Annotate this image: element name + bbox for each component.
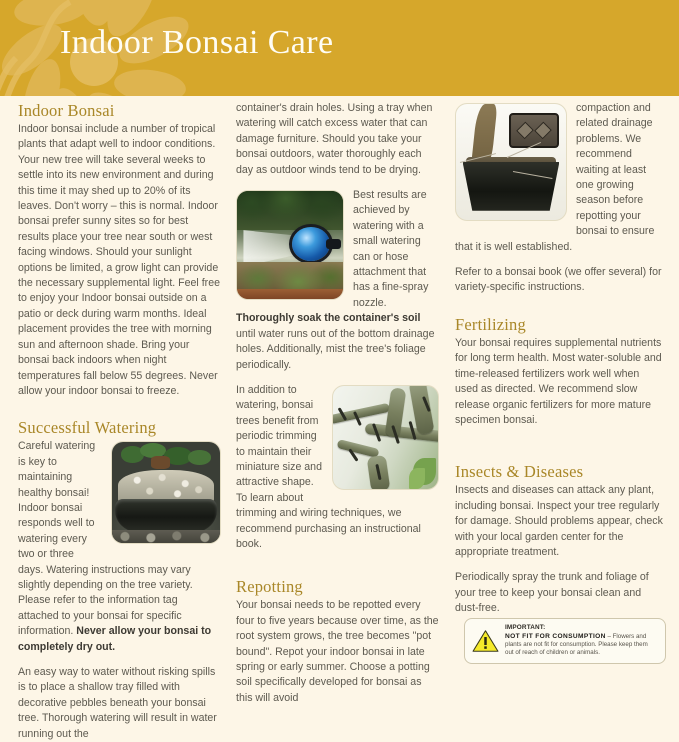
spray-bold-text: Thoroughly soak the container's soil	[236, 312, 420, 324]
wired-branches-photo	[332, 385, 439, 490]
page-header: Indoor Bonsai Care	[0, 0, 679, 96]
important-warning-box: IMPORTANT: NOT FIT FOR CONSUMPTION – Flo…	[464, 618, 666, 664]
warning-text-block: IMPORTANT: NOT FIT FOR CONSUMPTION – Flo…	[505, 624, 658, 658]
paragraph-repotting: Your bonsai needs to be repotted every f…	[236, 598, 439, 706]
spacer	[455, 438, 664, 462]
paragraph-watering-tray: An easy way to water without risking spi…	[18, 665, 221, 742]
section-heading-repotting: Repotting	[236, 577, 439, 597]
paragraph-indoor-bonsai: Indoor bonsai include a number of tropic…	[18, 122, 221, 399]
warning-line-not-fit: NOT FIT FOR CONSUMPTION	[505, 633, 606, 640]
page-root: Indoor Bonsai Care Indoor Bonsai Indoor …	[0, 0, 679, 679]
spray-text-with-photo: Best results are achieved by watering wi…	[236, 188, 439, 383]
section-heading-indoor-bonsai: Indoor Bonsai	[18, 101, 221, 121]
bonsai-pot-mesh-photo	[455, 103, 567, 221]
warning-triangle-icon	[472, 629, 499, 653]
bonsai-pot-pebbles-photo	[111, 441, 221, 544]
warning-line-important: IMPORTANT:	[505, 624, 658, 632]
paragraph-refer-book: Refer to a bonsai book (we offer several…	[455, 265, 664, 296]
spacer	[236, 562, 439, 577]
section-heading-insects-diseases: Insects & Diseases	[455, 462, 664, 482]
spray-tail-text: until water runs out of the bottom drain…	[236, 328, 434, 371]
trimming-text-with-photo: In addition to watering, bonsai trees be…	[236, 383, 439, 562]
paragraph-insects: Insects and diseases can attack any plan…	[455, 483, 664, 560]
section-heading-successful-watering: Successful Watering	[18, 418, 221, 438]
column-three: compaction and related drainage problems…	[455, 101, 664, 679]
spacer	[455, 306, 664, 315]
column-one: Indoor Bonsai Indoor bonsai include a nu…	[18, 101, 221, 679]
content-area: Indoor Bonsai Indoor bonsai include a nu…	[0, 101, 679, 679]
column-two: container's drain holes. Using a tray wh…	[236, 101, 439, 679]
page-title: Indoor Bonsai Care	[60, 24, 333, 62]
spray-nozzle-photo	[236, 190, 344, 300]
paragraph-drain-holes: container's drain holes. Using a tray wh…	[236, 101, 439, 178]
spacer	[18, 409, 221, 418]
paragraph-fertilizing: Your bonsai requires supplemental nutrie…	[455, 336, 664, 428]
pot-text-with-photo: compaction and related drainage problems…	[455, 101, 664, 265]
section-heading-fertilizing: Fertilizing	[455, 315, 664, 335]
paragraph-spray-trunk: Periodically spray the trunk and foliage…	[455, 570, 664, 616]
spray-lead-text: Best results are achieved by watering wi…	[353, 189, 428, 309]
watering-text-with-photo: Careful watering is key to maintaining h…	[18, 439, 221, 665]
